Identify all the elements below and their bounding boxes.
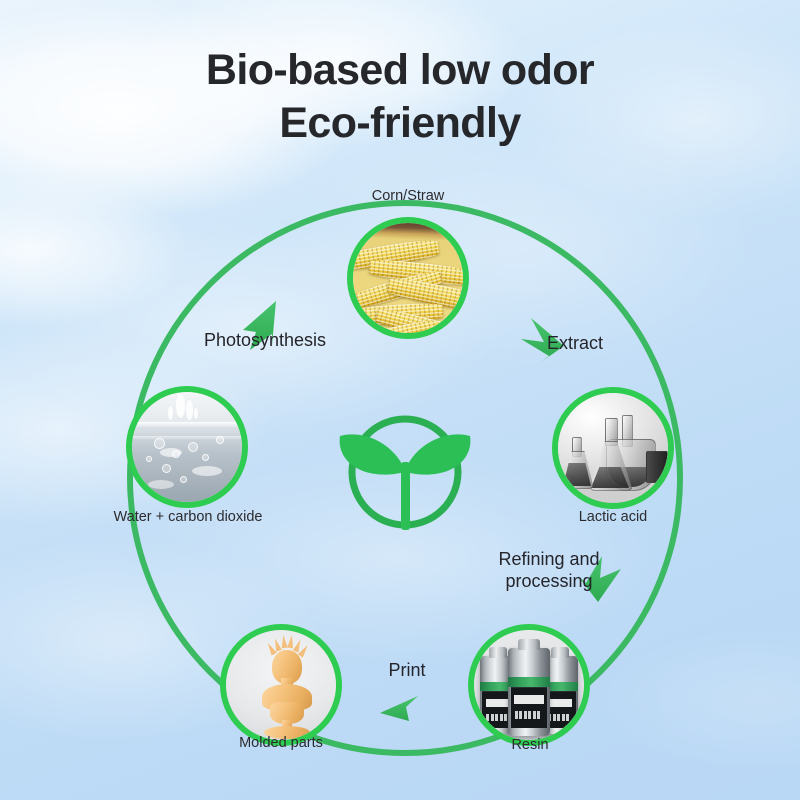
node-corn[interactable]	[347, 217, 469, 339]
water-splash-photo	[132, 392, 242, 502]
lab-flasks-photo	[558, 393, 668, 503]
node-water-carbon-dioxide[interactable]	[126, 386, 248, 508]
node-label-corn: Corn/Straw	[308, 187, 508, 205]
node-label-lactic-acid: Lactic acid	[513, 508, 713, 526]
sprout-in-circle-icon	[340, 419, 471, 530]
node-molded-parts[interactable]	[220, 624, 342, 746]
resin-bottles-photo	[474, 630, 584, 740]
arrow-print	[380, 696, 418, 721]
step-label-refining: Refining and processing	[479, 548, 619, 592]
node-label-water-carbon-dioxide: Water + carbon dioxide	[93, 508, 283, 526]
node-label-resin: Resin	[430, 736, 630, 754]
resin-bottle-center	[508, 648, 550, 736]
step-label-extract: Extract	[515, 332, 635, 354]
step-label-photosynthesis: Photosynthesis	[180, 329, 350, 351]
node-lactic-acid[interactable]	[552, 387, 674, 509]
node-resin[interactable]	[468, 624, 590, 746]
step-label-print: Print	[352, 659, 462, 681]
corn-cobs-photo	[353, 223, 463, 333]
infographic-canvas: Bio-based low odor Eco-friendly	[0, 0, 800, 800]
node-label-molded-parts: Molded parts	[181, 734, 381, 752]
printed-bust-photo	[226, 630, 336, 740]
